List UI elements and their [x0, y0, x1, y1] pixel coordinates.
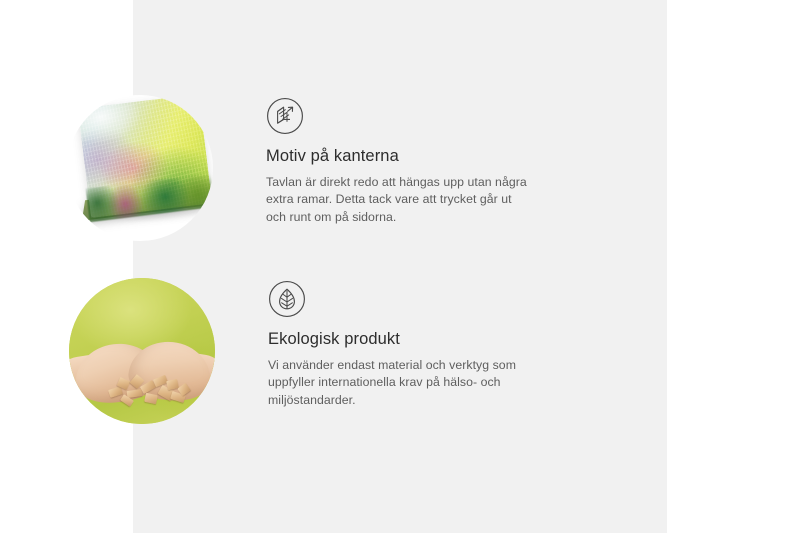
canvas-corner-photo	[67, 95, 213, 241]
feature-heading: Motiv på kanterna	[266, 147, 534, 167]
leaf-icon	[268, 280, 306, 318]
product-feature-page: Motiv på kanterna Tavlan är direkt redo …	[0, 0, 800, 533]
content-panel	[133, 0, 667, 533]
hands-holding-wood-chips-photo	[69, 278, 215, 424]
hands	[73, 330, 213, 408]
feature-block-motiv-pa-kanterna: Motiv på kanterna Tavlan är direkt redo …	[67, 95, 534, 241]
canvas-art-surface	[78, 95, 212, 218]
canvas-edge-print-icon	[266, 97, 304, 135]
feature-body-text: Tavlan är direkt redo att hängas upp uta…	[266, 174, 534, 227]
wood-chips	[107, 374, 189, 410]
feature-block-ekologisk-produkt: Ekologisk produkt Vi använder endast mat…	[69, 278, 536, 424]
feature-body-text: Vi använder endast material och verktyg …	[268, 357, 536, 410]
feature-text-block: Ekologisk produkt Vi använder endast mat…	[268, 278, 536, 410]
feature-heading: Ekologisk produkt	[268, 330, 536, 350]
feature-text-block: Motiv på kanterna Tavlan är direkt redo …	[266, 95, 534, 227]
